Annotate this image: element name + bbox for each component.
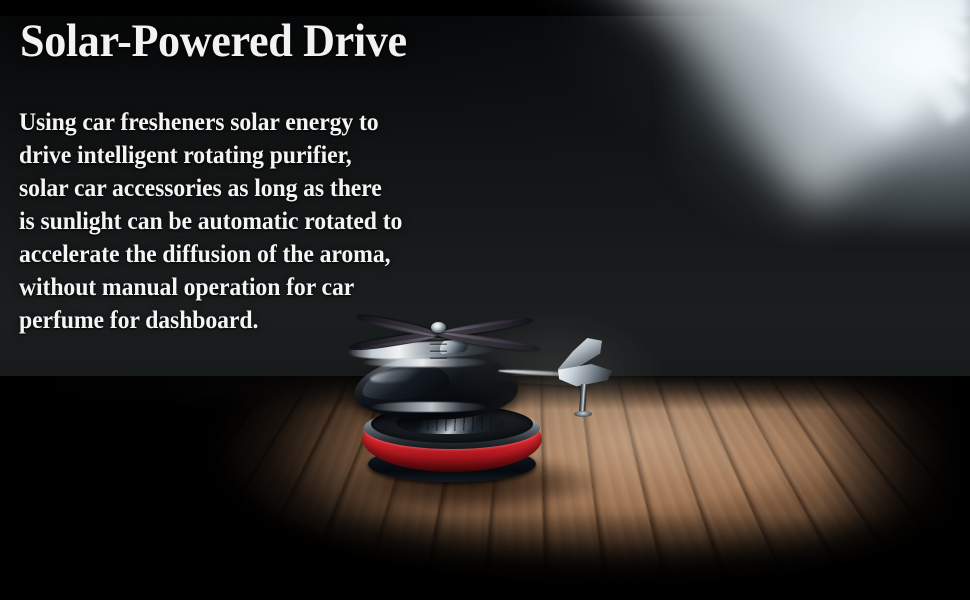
product-banner: Solar-Powered Drive Using car fresheners…	[0, 0, 970, 600]
page-title: Solar-Powered Drive	[20, 17, 407, 67]
floor-bottom-fade	[0, 514, 970, 600]
fuselage-chrome-trim-lower	[362, 358, 488, 367]
light-source-glow	[670, 0, 970, 230]
landing-skid	[370, 402, 488, 412]
body-line: is sunlight can be automatic rotated to	[19, 204, 512, 237]
tail-support-strut	[579, 384, 587, 414]
body-line: Using car fresheners solar energy to	[19, 105, 512, 138]
body-line: drive intelligent rotating purifier,	[19, 138, 512, 171]
body-copy: Using car fresheners solar energy to dri…	[19, 105, 549, 336]
tail-strut-foot	[574, 411, 592, 417]
product-image-helicopter-diffuser	[344, 306, 664, 506]
rotor-blade-front-left	[356, 313, 439, 339]
rotor-hub-cap	[431, 322, 446, 333]
body-line: solar car accessories as long as there	[19, 171, 512, 204]
rotor-mast-rings	[430, 338, 447, 364]
body-line: without manual operation for car	[19, 270, 512, 303]
body-line: accelerate the diffusion of the aroma,	[19, 237, 512, 270]
